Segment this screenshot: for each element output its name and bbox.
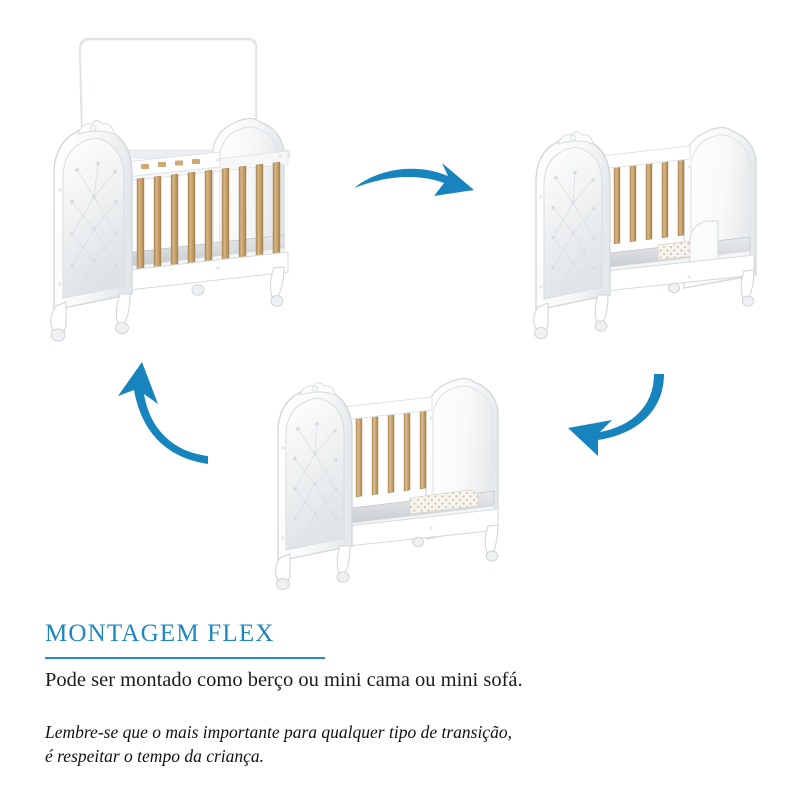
caption-note: Lembre-se que o mais importante para qua… (45, 721, 745, 768)
arrow-berco-to-mini-cama (352, 150, 492, 220)
caption-block: MONTAGEM FLEX Pode ser montado como berç… (45, 620, 745, 768)
headboard-capitone (536, 132, 610, 311)
product-image-mini-sofa (262, 358, 528, 586)
product-image-mini-cama (522, 105, 788, 333)
arrow-mini-sofa-to-berco (112, 360, 222, 470)
title-underline (45, 657, 325, 659)
caption-note-line-2: é respeitar o tempo da criança. (45, 745, 745, 769)
headboard-capitone (54, 121, 132, 311)
product-image-berco (20, 22, 320, 332)
caption-lead-text: Pode ser montado como berço ou mini cama… (45, 668, 745, 694)
caption-note-line-1: Lembre-se que o mais importante para qua… (45, 721, 745, 745)
mosquito-net-frame (80, 39, 256, 137)
headboard-capitone (278, 383, 352, 562)
section-title: MONTAGEM FLEX (45, 620, 745, 648)
arrow-mini-cama-to-mini-sofa (562, 372, 682, 472)
diagram-stage: MONTAGEM FLEX Pode ser montado como berç… (0, 0, 800, 800)
